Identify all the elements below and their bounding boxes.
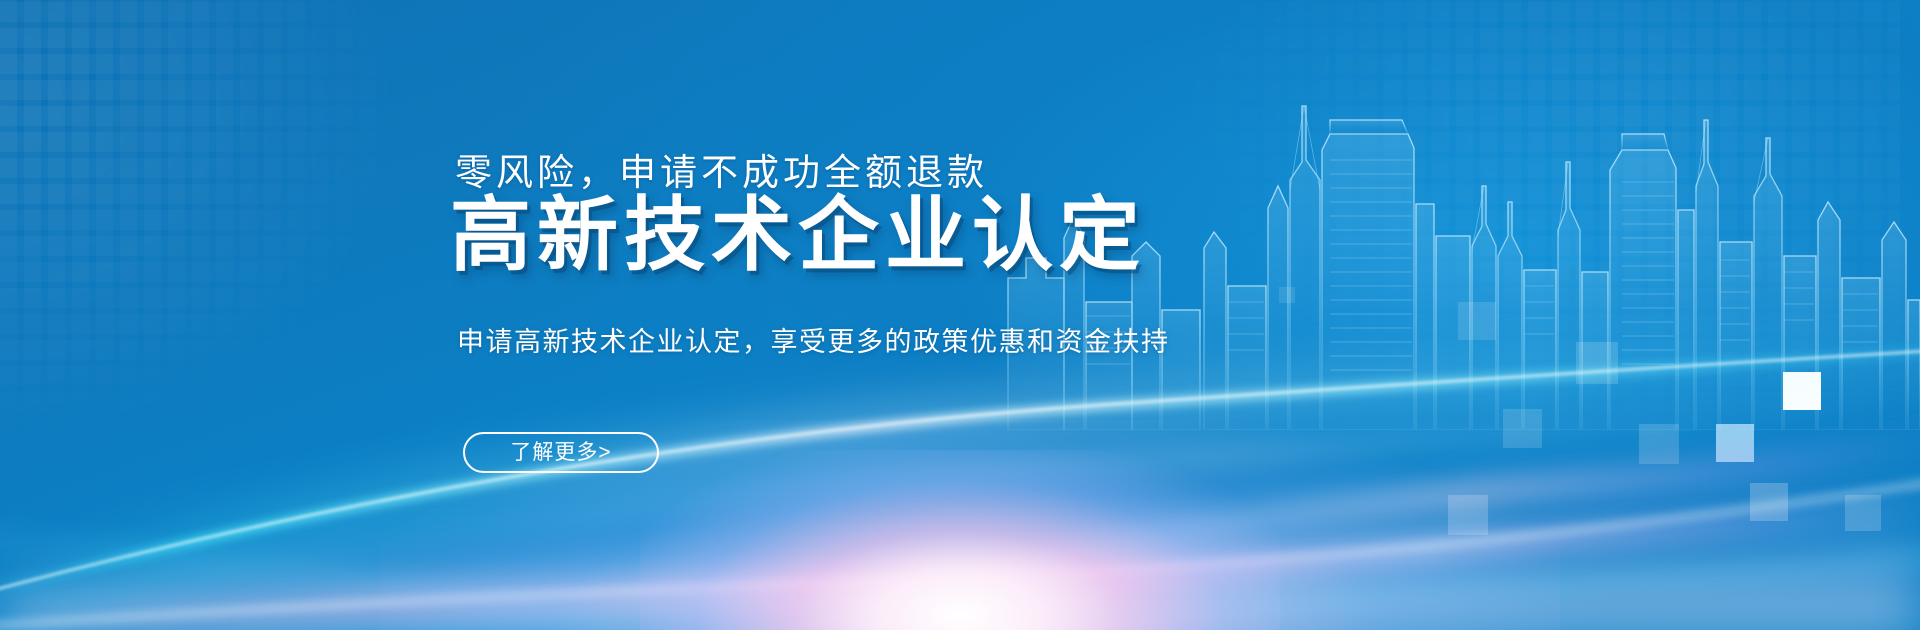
aurora-glow-core: [640, 450, 1280, 630]
decor-square-10: [1279, 287, 1295, 303]
decor-square-8: [1845, 495, 1881, 531]
decor-square-6: [1783, 372, 1821, 410]
banner-subline: 申请高新技术企业认定，享受更多的政策优惠和资金扶持: [457, 320, 1170, 359]
decor-square-7: [1750, 483, 1788, 521]
banner-tagline: 零风险，申请不成功全额退款: [455, 142, 988, 196]
banner-content: 零风险，申请不成功全额退款 高新技术企业认定 申请高新技术企业认定，享受更多的政…: [0, 0, 1920, 630]
decor-square-2: [1576, 342, 1618, 384]
decor-square-9: [1448, 495, 1488, 535]
decor-square-3: [1503, 409, 1542, 448]
decor-square-5: [1716, 424, 1754, 462]
decor-square-4: [1639, 424, 1679, 464]
decor-square-1: [1458, 302, 1496, 340]
learn-more-button[interactable]: 了解更多>: [463, 432, 659, 473]
promo-banner: 零风险，申请不成功全额退款 高新技术企业认定 申请高新技术企业认定，享受更多的政…: [0, 0, 1920, 630]
banner-headline: 高新技术企业认定: [450, 196, 1146, 277]
